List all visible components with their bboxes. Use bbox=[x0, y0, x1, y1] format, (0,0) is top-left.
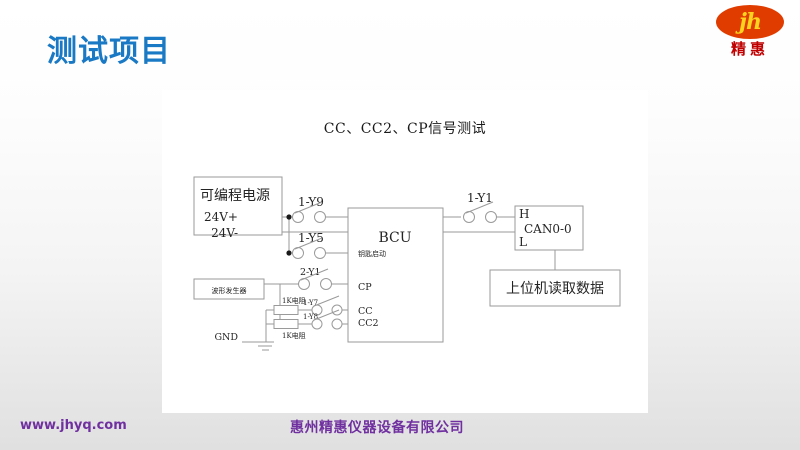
relay-1y8-contact-a bbox=[312, 319, 322, 329]
page-title: 测试项目 bbox=[47, 26, 171, 70]
bcu-pin-cc: CC bbox=[358, 306, 373, 317]
junction-dot-24v2 bbox=[286, 250, 291, 255]
power-pos-label: 24V+ bbox=[204, 210, 238, 224]
can-terminal-l: L bbox=[519, 235, 527, 249]
relay-1y1-label: 1-Y1 bbox=[467, 191, 493, 205]
power-neg-label: 24V- bbox=[211, 226, 238, 240]
bcu-label: BCU bbox=[378, 230, 411, 246]
bcu-pin-cp: CP bbox=[358, 282, 372, 293]
resistor-top-symbol bbox=[274, 306, 298, 315]
relay-1y9-contact-b bbox=[315, 212, 326, 223]
can-label: CAN0-0 bbox=[524, 222, 572, 236]
relay-2y1-contact-a bbox=[299, 279, 310, 290]
relay-1y9-contact-a bbox=[293, 212, 304, 223]
footer-company: 惠州精惠仪器设备有限公司 bbox=[290, 417, 464, 437]
footer-url[interactable]: www.jhyq.com bbox=[20, 418, 127, 433]
relay-2y1-contact-b bbox=[321, 279, 332, 290]
relay-1y7-contact-b bbox=[332, 305, 342, 315]
relay-1y5-contact-b bbox=[315, 248, 326, 259]
company-logo: jh 精惠 bbox=[710, 3, 790, 65]
logo-mark-text: jh bbox=[739, 11, 761, 33]
wave-gen-label: 波形发生器 bbox=[212, 286, 247, 295]
logo-sub-text: 精惠 bbox=[710, 38, 790, 59]
relay-1y1-contact-b bbox=[486, 212, 497, 223]
relay-1y8-contact-b bbox=[332, 319, 342, 329]
power-supply-box bbox=[194, 177, 282, 235]
bcu-pin-cc2: CC2 bbox=[358, 318, 379, 329]
resistor-bottom-symbol bbox=[274, 320, 298, 329]
schematic-svg: .ln{stroke:#9a9a9a;stroke-width:1;fill:n… bbox=[162, 90, 648, 413]
power-supply-label: 可编程电源 bbox=[200, 188, 270, 204]
can-terminal-h: H bbox=[519, 207, 529, 221]
bcu-pin-key-start: 钥匙启动 bbox=[358, 249, 386, 258]
host-label: 上位机读取数据 bbox=[506, 280, 604, 297]
slide-canvas: 测试项目 jh 精惠 CC、CC2、CP信号测试 .ln{stroke:#9a9… bbox=[0, 0, 800, 450]
junction-dot-24v bbox=[286, 214, 291, 219]
resistor-bottom-label: 1K电阻 bbox=[282, 331, 306, 340]
diagram-panel: CC、CC2、CP信号测试 .ln{stroke:#9a9a9a;stroke-… bbox=[162, 90, 648, 413]
ground-label: GND bbox=[214, 332, 238, 343]
logo-ellipse-icon: jh bbox=[716, 5, 784, 39]
relay-1y5-contact-a bbox=[293, 248, 304, 259]
relay-1y1-contact-a bbox=[464, 212, 475, 223]
